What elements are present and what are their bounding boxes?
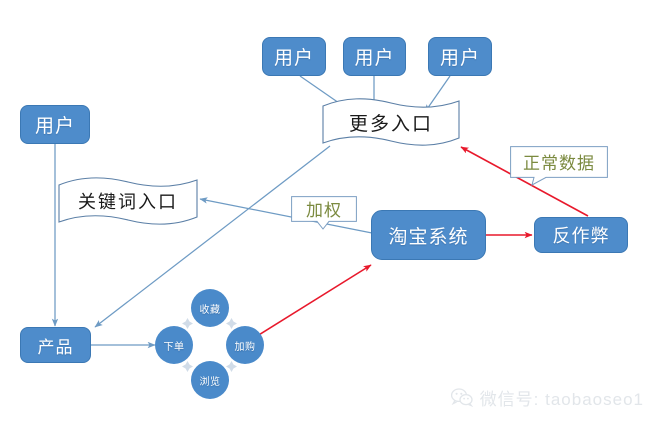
ring-decoration-bottom-left <box>182 361 193 372</box>
ring-circle-browse[interactable]: 浏览 <box>191 361 229 399</box>
watermark: 微信号: taobaoseo1 <box>451 385 644 410</box>
ring-circle-add-cart[interactable]: 加购 <box>226 326 264 364</box>
diagram-canvas: 用户 用户 用户 用户 更多入口 关键词入口 产品 淘宝系统 反作弊 <box>0 0 658 422</box>
ring-decoration-bottom-right <box>226 361 237 372</box>
ring-circle-browse-label: 浏览 <box>200 373 221 388</box>
node-anti-cheat-label: 反作弊 <box>553 222 610 248</box>
watermark-text: 微信号: taobaoseo1 <box>480 385 644 410</box>
node-user-top-3-label: 用户 <box>440 43 480 70</box>
node-anti-cheat[interactable]: 反作弊 <box>534 217 628 253</box>
node-user-left[interactable]: 用户 <box>20 105 90 144</box>
callout-weighting-label: 加权 <box>291 196 357 221</box>
node-keyword-entry[interactable]: 关键词入口 <box>57 176 199 226</box>
node-taobao-system-label: 淘宝系统 <box>388 222 468 249</box>
node-more-entries[interactable]: 更多入口 <box>321 97 461 147</box>
node-product[interactable]: 产品 <box>20 327 91 363</box>
behaviour-ring: 收藏 下单 加购 浏览 <box>155 290 265 400</box>
ring-circle-favorite[interactable]: 收藏 <box>191 289 229 327</box>
node-user-top-1-label: 用户 <box>274 43 314 70</box>
ring-circle-order-label: 下单 <box>164 338 185 353</box>
node-user-top-2[interactable]: 用户 <box>343 37 406 76</box>
node-taobao-system[interactable]: 淘宝系统 <box>371 210 486 260</box>
node-user-top-3[interactable]: 用户 <box>428 37 492 76</box>
callout-normal-data: 正常数据 <box>510 146 608 186</box>
node-user-top-2-label: 用户 <box>354 43 394 70</box>
node-user-left-label: 用户 <box>35 111 75 138</box>
ring-circle-favorite-label: 收藏 <box>200 301 221 316</box>
node-product-label: 产品 <box>38 333 74 358</box>
callout-normal-data-label: 正常数据 <box>510 146 608 177</box>
callout-weighting: 加权 <box>291 196 357 230</box>
ring-circle-order[interactable]: 下单 <box>155 326 193 364</box>
ring-circle-add-cart-label: 加购 <box>235 338 256 353</box>
wechat-icon <box>451 388 473 407</box>
ring-decoration-top-left <box>182 318 193 329</box>
node-more-entries-label: 更多入口 <box>321 97 461 147</box>
node-user-top-1[interactable]: 用户 <box>262 37 326 76</box>
wire-addcart-to-system <box>254 265 371 338</box>
node-keyword-entry-label: 关键词入口 <box>57 176 199 226</box>
